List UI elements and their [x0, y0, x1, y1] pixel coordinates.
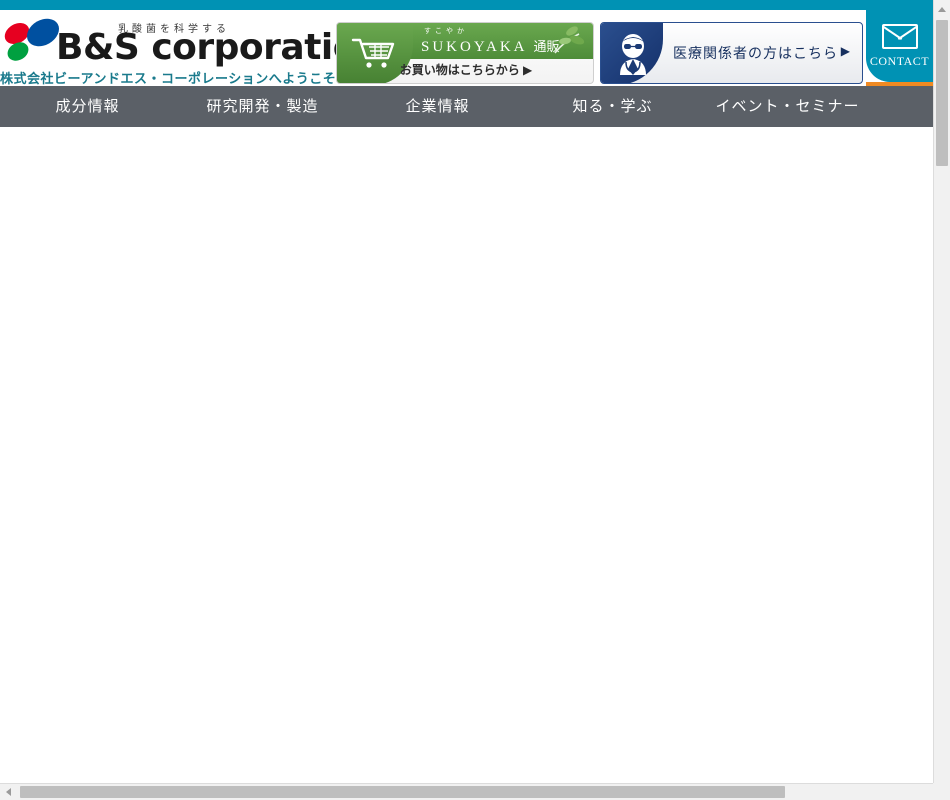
- photo-glow-overlay: [0, 86, 933, 786]
- hero-kicker: わたしたちの願い: [0, 331, 933, 375]
- leaf-sprout-icon: [551, 25, 585, 57]
- photo-brightness-overlay: [0, 86, 933, 786]
- hero-text-block: わたしたちの願い より多くの人が健体康心を実現することに貢献 〜すこやかでやすら…: [0, 86, 933, 786]
- photo-hose-grey-2: [581, 262, 740, 786]
- site-logo[interactable]: 乳酸菌を科学する B&S corporation 株式会社ビーアンドエス・コーポ…: [0, 12, 320, 84]
- photo-sink: [10, 622, 310, 636]
- photo-tube: [520, 234, 560, 434]
- photo-machine: [430, 516, 690, 786]
- logo-mark-icon: [4, 18, 60, 64]
- medical-banner-label: 医療関係者の方はこちら: [673, 43, 838, 63]
- photo-ceiling-light: [120, 134, 600, 148]
- nav-item-kigyo-joho[interactable]: 企業情報: [350, 86, 525, 127]
- nav-item-event-seminar[interactable]: イベント・セミナー: [700, 86, 875, 127]
- doctor-icon: [611, 31, 655, 77]
- photo-back-wall: [0, 266, 933, 786]
- site-header: 乳酸菌を科学する B&S corporation 株式会社ビーアンドエス・コーポ…: [0, 10, 933, 86]
- photo-bottle: [42, 596, 54, 630]
- hero-subtitle: 〜すこやかでやすらかな毎日を〜: [0, 436, 933, 468]
- shop-banner-title: SUKOYAKA 通販: [421, 36, 559, 56]
- photo-worker-body: [96, 494, 306, 786]
- photo-machine-3: [836, 516, 933, 786]
- vertical-scrollbar[interactable]: [933, 0, 950, 786]
- shop-banner-title-main: SUKOYAKA: [421, 39, 527, 55]
- photo-coil: [560, 196, 594, 396]
- hero-background-photo: [0, 86, 933, 786]
- photo-hose-orange-2: [666, 379, 874, 786]
- photo-worker-hood: [110, 468, 218, 566]
- shop-banner-subtitle: お買い物はこちらから ▶: [337, 61, 594, 78]
- hero-section: わたしたちの願い より多くの人が健体康心を実現することに貢献 〜すこやかでやすら…: [0, 86, 933, 786]
- main-navigation: 成分情報 研究開発・製造 企業情報 知る・学ぶ イベント・セミナー 健: [0, 86, 933, 127]
- nav-item-shiru-manabu[interactable]: 知る・学ぶ: [525, 86, 700, 127]
- photo-tap: [18, 586, 25, 628]
- logo-wordmark-a: B&S: [56, 27, 139, 68]
- medical-professionals-banner[interactable]: 医療関係者の方はこちら ▶: [600, 22, 863, 84]
- logo-tagline: 株式会社ビーアンドエス・コーポレーションへようこそ: [0, 68, 336, 87]
- photo-machine-2: [700, 556, 850, 786]
- contact-button[interactable]: CONTACT: [866, 10, 933, 82]
- vertical-scrollbar-thumb[interactable]: [936, 20, 948, 166]
- photo-hose-grey: [455, 454, 725, 777]
- contact-button-label: CONTACT: [866, 54, 933, 69]
- photo-pillar: [238, 261, 328, 561]
- scroll-left-arrow-icon[interactable]: [0, 784, 17, 800]
- envelope-icon: [882, 24, 918, 49]
- nav-item-seibun-joho[interactable]: 成分情報: [0, 86, 175, 127]
- nav-item-kenkyu-kaihatsu[interactable]: 研究開発・製造: [175, 86, 350, 127]
- photo-glass-sphere: [0, 746, 150, 786]
- scrollbar-corner: [933, 783, 950, 800]
- hero-headline: より多くの人が健体康心を実現することに貢献: [160, 374, 933, 435]
- photo-hose-orange: [441, 409, 630, 786]
- sukoyaka-shop-banner[interactable]: すこやか SUKOYAKA 通販 お買い物はこちらから ▶: [336, 22, 594, 84]
- horizontal-scrollbar[interactable]: [0, 783, 950, 800]
- photo-bench-top: [0, 616, 460, 632]
- horizontal-scrollbar-thumb[interactable]: [20, 786, 785, 798]
- photo-coil-2: [592, 626, 632, 746]
- medical-banner-arrow-icon: ▶: [841, 44, 850, 58]
- page-content: わたしたちの願い より多くの人が健体康心を実現することに貢献 〜すこやかでやすら…: [0, 0, 933, 786]
- photo-bottle: [115, 596, 127, 630]
- browser-viewport: わたしたちの願い より多くの人が健体康心を実現することに貢献 〜すこやかでやすら…: [0, 0, 950, 800]
- nav-item-kenko[interactable]: 健: [875, 86, 933, 127]
- photo-wall-clock: [258, 354, 301, 397]
- photo-tap: [112, 586, 119, 628]
- photo-bottle: [180, 596, 192, 630]
- photo-column: [524, 146, 554, 566]
- photo-worker-visor: [116, 500, 178, 542]
- photo-window: [430, 376, 720, 521]
- scroll-up-arrow-icon[interactable]: [934, 0, 950, 17]
- photo-tap: [180, 586, 187, 628]
- hero-since-label: Since: [845, 578, 933, 636]
- logo-wordmark: B&S corporation: [56, 27, 382, 68]
- top-accent-strip: [0, 0, 933, 10]
- medical-banner-icon-panel: [601, 23, 663, 84]
- photo-bench-body: [0, 632, 460, 752]
- shop-banner-furigana: すこやか: [424, 26, 468, 36]
- nav-item-list: 成分情報 研究開発・製造 企業情報 知る・学ぶ イベント・セミナー 健: [0, 86, 933, 127]
